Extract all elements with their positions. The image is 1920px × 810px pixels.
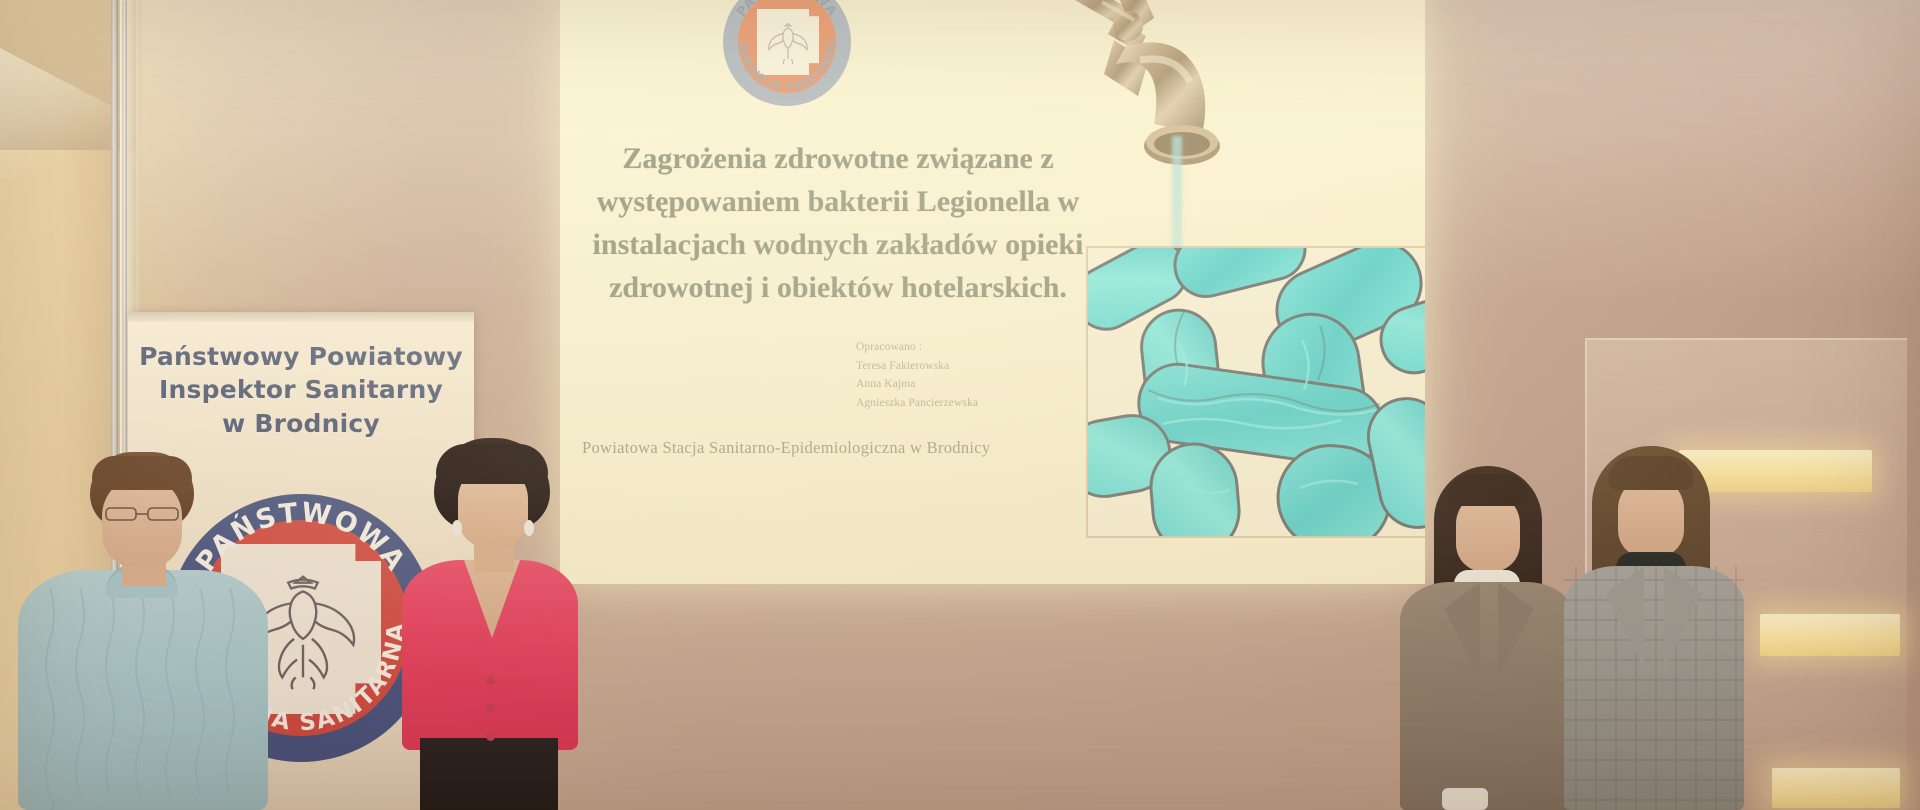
jacket-button — [486, 732, 495, 741]
authors-heading: Opracowano : — [856, 338, 1086, 357]
earring — [452, 520, 462, 536]
photo-scene: Państwowy Powiatowy Inspektor Sanitarny … — [0, 0, 1920, 810]
person-right-1 — [1400, 466, 1576, 810]
bacteria-illustration-icon — [1088, 248, 1425, 536]
hair-fringe — [92, 456, 192, 490]
hair-fringe — [1608, 456, 1694, 490]
slide-title: Zagrożenia zdrowotne związane z występow… — [568, 138, 1108, 310]
presentation-slide: PAŃSTWOWA INSPEKCJA SANITARNA — [560, 0, 1425, 584]
hair-top — [436, 444, 548, 484]
banner-line-1: Państwowy Powiatowy — [128, 340, 474, 373]
taupe-blazer — [1400, 582, 1576, 810]
hair-fringe — [1448, 474, 1528, 506]
plaid-pattern — [1564, 566, 1744, 810]
author-name: Agnieszka Pancierzewska — [856, 394, 1086, 413]
author-name: Anna Kajma — [856, 375, 1086, 394]
legionella-micrograph — [1088, 248, 1425, 536]
banner-heading: Państwowy Powiatowy Inspektor Sanitarny … — [128, 340, 474, 440]
wall-light-strip — [1760, 614, 1900, 656]
wall-light-strip — [1772, 768, 1900, 808]
slide-organization: Powiatowa Stacja Sanitarno-Epidemiologic… — [582, 438, 1102, 458]
earring — [524, 520, 534, 536]
person-left-1 — [18, 452, 268, 810]
logo-arc-text: PAŃSTWOWA INSPEKCJA SANITARNA — [723, 0, 851, 106]
knit-texture — [32, 588, 254, 810]
banner-line-3: w Brodnicy — [128, 407, 474, 440]
svg-text:PAŃSTWOWA: PAŃSTWOWA — [734, 0, 840, 20]
banner-top-rail — [128, 312, 474, 322]
black-skirt — [420, 738, 558, 810]
projection-screen: PAŃSTWOWA INSPEKCJA SANITARNA — [560, 0, 1425, 584]
author-name: Teresa Fakierowska — [856, 357, 1086, 376]
jacket-button — [486, 704, 495, 713]
person-right-2 — [1564, 446, 1744, 810]
banner-line-2: Inspektor Sanitarny — [128, 373, 474, 406]
slide-authors: Opracowano : Teresa Fakierowska Anna Kaj… — [856, 338, 1086, 413]
jacket-button — [486, 676, 495, 685]
person-left-2 — [400, 438, 580, 810]
blouse-cuff — [1442, 788, 1488, 810]
glasses-icon — [104, 506, 180, 522]
sanitary-inspection-logo-icon: PAŃSTWOWA INSPEKCJA SANITARNA — [723, 0, 851, 106]
